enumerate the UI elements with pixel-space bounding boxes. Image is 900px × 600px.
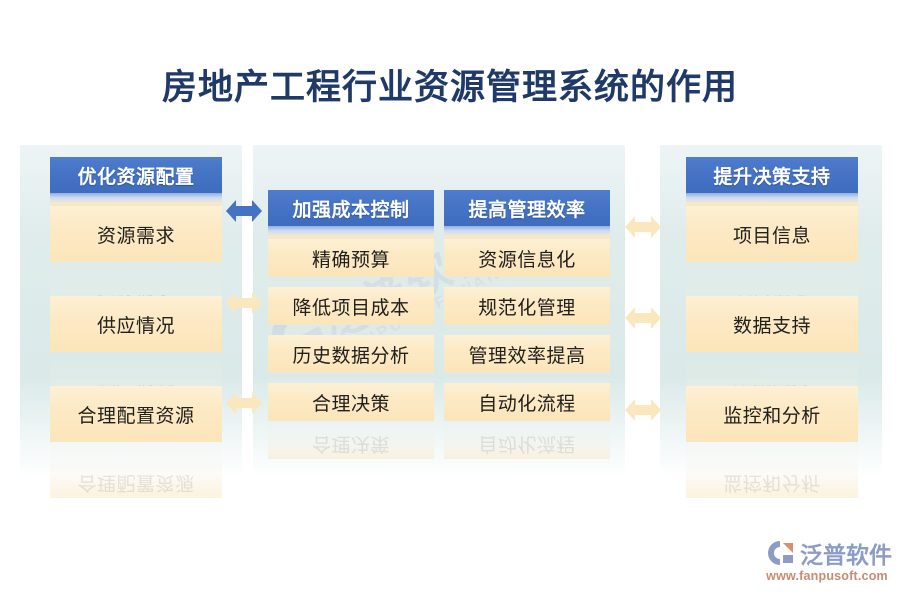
column-items: 资源需求 供应情况 合理配置资源 (50, 206, 222, 442)
logo-name: 泛普软件 (800, 536, 892, 570)
item-box[interactable]: 数据支持 (686, 296, 858, 352)
item-box[interactable]: 精确预算 (268, 239, 434, 277)
item-box[interactable]: 供应情况 (50, 296, 222, 352)
column-items: 资源信息化 规范化管理 管理效率提高 自动化流程 (444, 239, 610, 421)
fanpu-logo-icon (766, 539, 796, 567)
item-box[interactable]: 监控和分析 (686, 386, 858, 442)
diagram-canvas: 房地产工程行业资源管理系统的作用 泛普软件 FANPU SOFTWARE 优化资… (0, 0, 900, 600)
logo-url: www.fanpusoft.com (766, 569, 888, 583)
double-arrow-icon (225, 285, 263, 321)
item-box[interactable]: 降低项目成本 (268, 287, 434, 325)
double-arrow-icon (624, 209, 662, 245)
brand-logo: 泛普软件 www.fanpusoft.com (766, 538, 888, 586)
column-header: 提高管理效率 (444, 190, 610, 226)
column-enhance-decision-support: 提升决策支持 项目信息 数据支持 监控和分析 (686, 157, 858, 442)
column-header: 优化资源配置 (50, 157, 222, 193)
double-arrow-icon (624, 392, 662, 428)
column-optimize-resource-allocation: 优化资源配置 资源需求 供应情况 合理配置资源 (50, 157, 222, 442)
item-box[interactable]: 资源信息化 (444, 239, 610, 277)
column-header: 提升决策支持 (686, 157, 858, 193)
item-box[interactable]: 规范化管理 (444, 287, 610, 325)
column-strengthen-cost-control: 加强成本控制 精确预算 降低项目成本 历史数据分析 合理决策 (268, 190, 434, 421)
column-improve-management-efficiency: 提高管理效率 资源信息化 规范化管理 管理效率提高 自动化流程 (444, 190, 610, 421)
double-arrow-icon (225, 193, 263, 229)
page-title: 房地产工程行业资源管理系统的作用 (0, 66, 900, 110)
item-box[interactable]: 合理配置资源 (50, 386, 222, 442)
item-box[interactable]: 合理决策 (268, 383, 434, 421)
double-arrow-icon (624, 300, 662, 336)
item-box[interactable]: 自动化流程 (444, 383, 610, 421)
double-arrow-icon (225, 385, 263, 421)
item-box[interactable]: 项目信息 (686, 206, 858, 262)
item-box[interactable]: 管理效率提高 (444, 335, 610, 373)
column-items: 项目信息 数据支持 监控和分析 (686, 206, 858, 442)
item-box[interactable]: 历史数据分析 (268, 335, 434, 373)
column-items: 精确预算 降低项目成本 历史数据分析 合理决策 (268, 239, 434, 421)
column-header: 加强成本控制 (268, 190, 434, 226)
item-box[interactable]: 资源需求 (50, 206, 222, 262)
